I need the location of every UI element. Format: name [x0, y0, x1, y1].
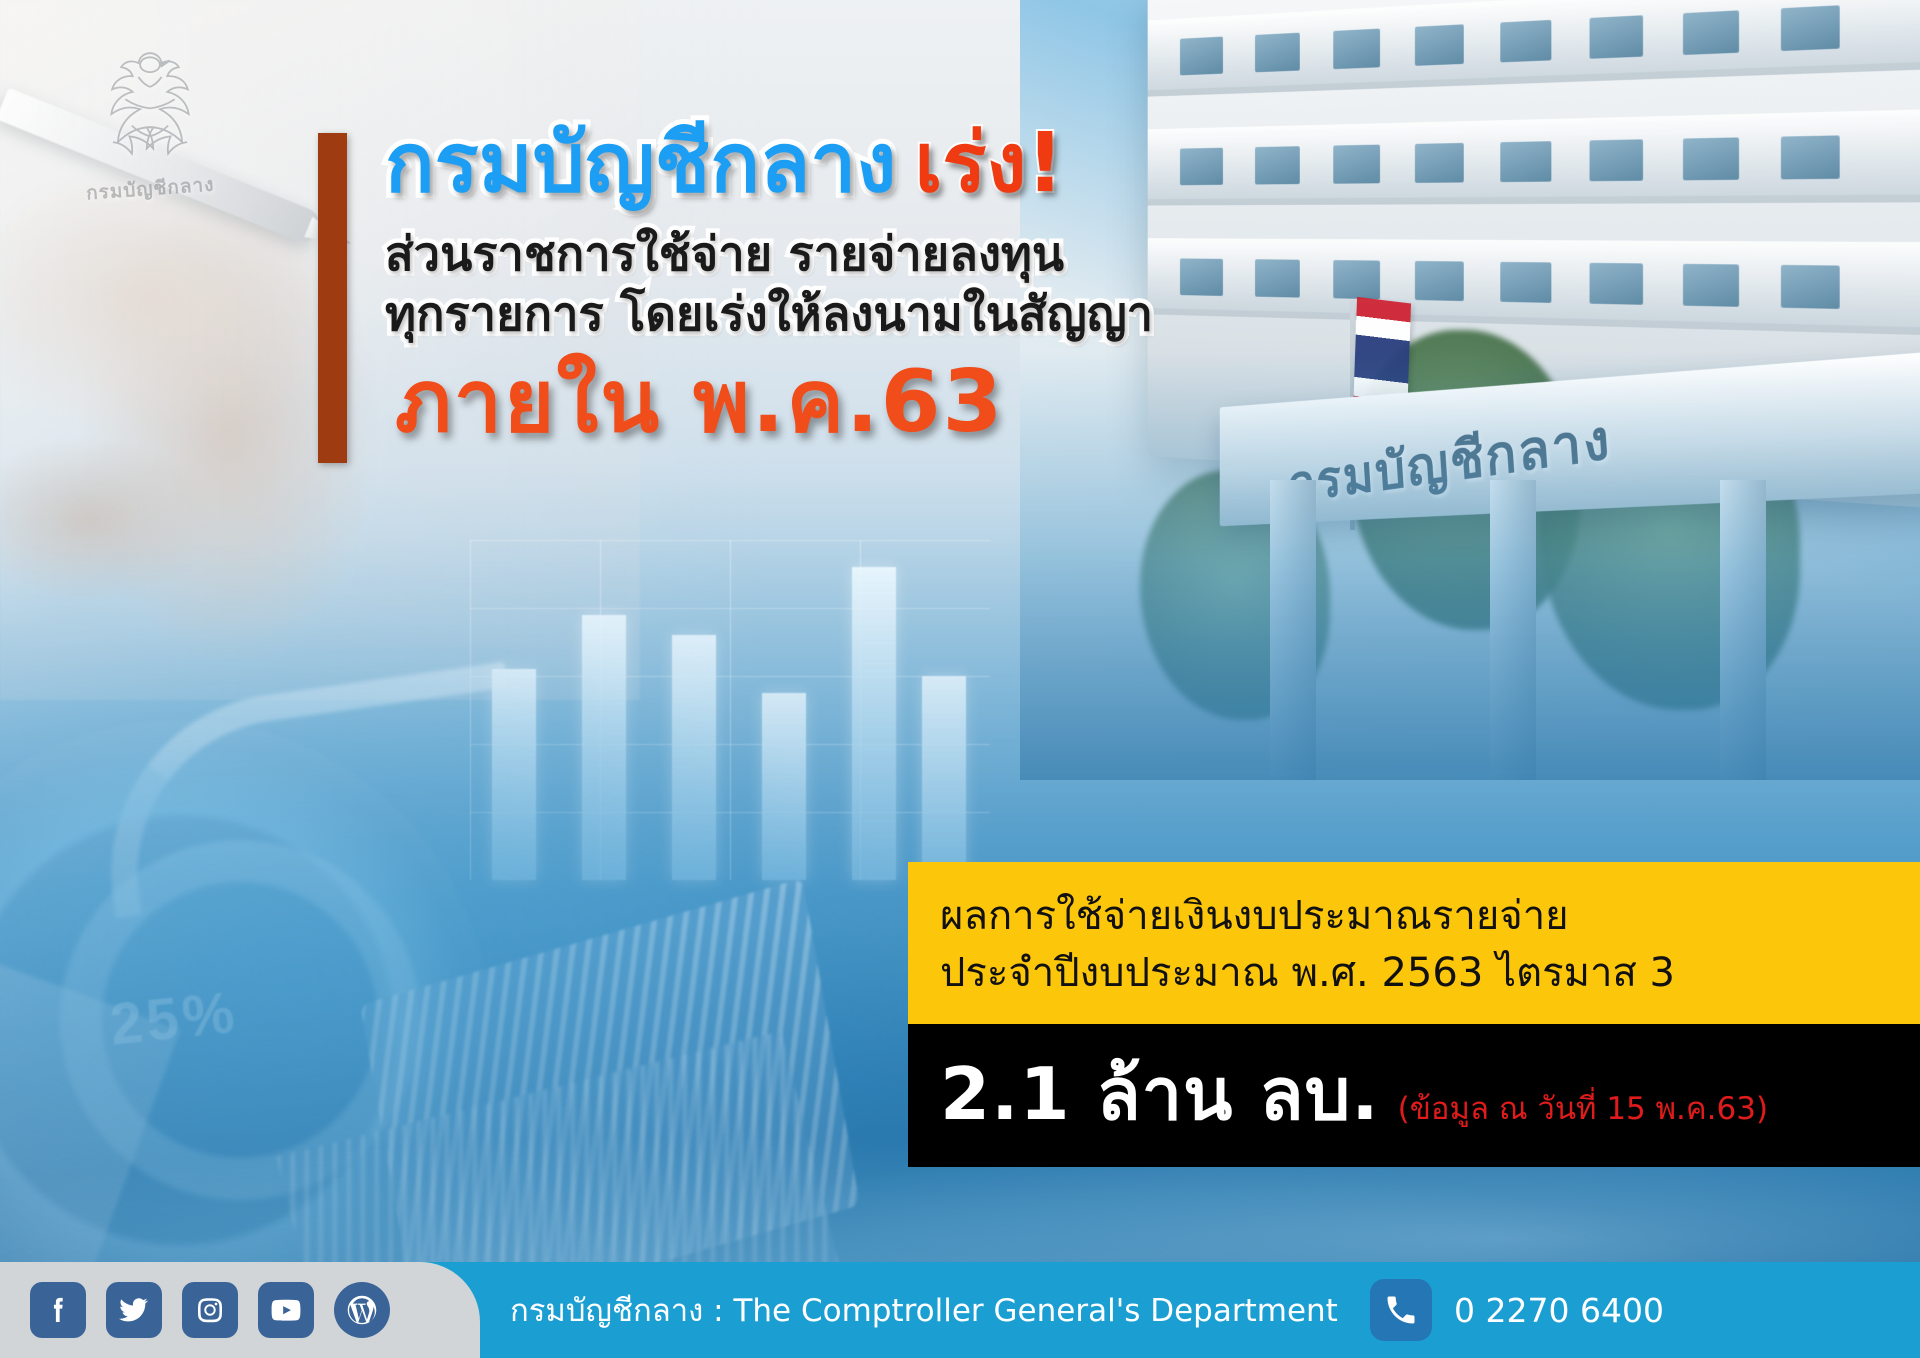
headline-accent-bar: [318, 133, 347, 463]
facebook-icon[interactable]: [30, 1282, 86, 1338]
phone-number: 0 2270 6400: [1454, 1291, 1664, 1330]
youtube-icon[interactable]: [258, 1282, 314, 1338]
chart-bar: [672, 635, 716, 880]
result-amount: 2.1 ล้าน ลบ.: [940, 1036, 1380, 1151]
headline-line-1: กรมบัญชีกลางเร่ง!: [385, 120, 1395, 209]
social-links-panel: [0, 1262, 480, 1358]
background-bar-chart: [470, 540, 990, 880]
chart-bar: [762, 693, 806, 880]
headline-block: กรมบัญชีกลางเร่ง! ส่วนราชการใช้จ่าย รายจ…: [385, 120, 1395, 447]
headline-org-name: กรมบัญชีกลาง: [385, 116, 896, 211]
chart-bar: [582, 615, 626, 880]
twitter-icon[interactable]: [106, 1282, 162, 1338]
result-amount-box: 2.1 ล้าน ลบ. (ข้อมูล ณ วันที่ 15 พ.ค.63): [908, 1024, 1920, 1167]
result-title-line-1: ผลการใช้จ่ายเงินงบประมาณรายจ่าย: [940, 888, 1888, 945]
garuda-emblem-icon: กรมบัญชีกลาง: [40, 22, 260, 222]
headline-deadline: ภายใน พ.ค.63: [385, 357, 1395, 447]
phone-icon: [1370, 1279, 1432, 1341]
result-block: ผลการใช้จ่ายเงินงบประมาณรายจ่าย ประจำปีง…: [908, 862, 1920, 1167]
footer-bar: กรมบัญชีกลาง : The Comptroller General's…: [0, 1262, 1920, 1358]
footer-phone: 0 2270 6400: [1370, 1279, 1664, 1341]
chart-bar: [852, 567, 896, 880]
footer-org-name: กรมบัญชีกลาง : The Comptroller General's…: [510, 1285, 1338, 1335]
headline-urgent-word: เร่ง!: [914, 116, 1064, 211]
chart-bar: [922, 676, 966, 880]
chart-gridlines: [470, 540, 990, 880]
result-title-line-2: ประจำปีงบประมาณ พ.ศ. 2563 ไตรมาส 3: [940, 945, 1888, 1002]
result-title-box: ผลการใช้จ่ายเงินงบประมาณรายจ่าย ประจำปีง…: [908, 862, 1920, 1024]
infographic-poster: 25%: [0, 0, 1920, 1358]
instagram-icon[interactable]: [182, 1282, 238, 1338]
result-data-note: (ข้อมูล ณ วันที่ 15 พ.ค.63): [1398, 1083, 1768, 1133]
wordpress-icon[interactable]: [334, 1282, 390, 1338]
headline-line-3: ทุกรายการ โดยเร่งให้ลงนามในสัญญา: [385, 285, 1395, 345]
headline-line-2: ส่วนราชการใช้จ่าย รายจ่ายลงทุน: [385, 225, 1395, 285]
gauge-percent-label: 25%: [107, 978, 241, 1058]
